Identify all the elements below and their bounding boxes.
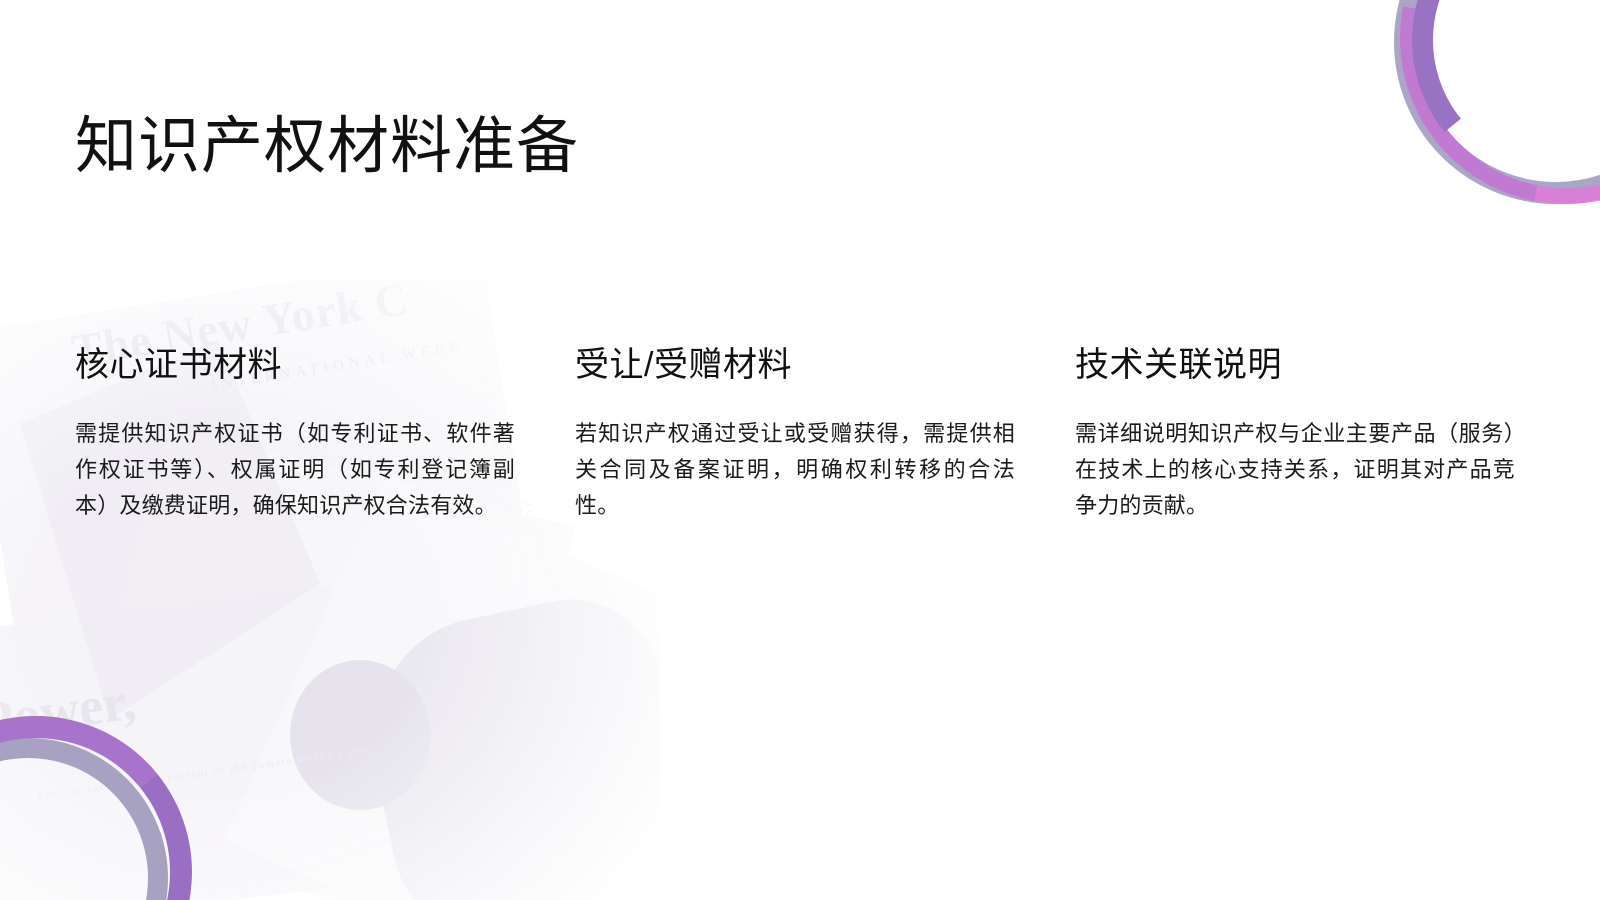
corner-arc-top-right-lavender: [1394, 0, 1600, 204]
slide-canvas: The New York C INTERNATIONAL WEEK Power,…: [0, 0, 1600, 900]
watermark-headline-text: Power,: [0, 669, 139, 752]
watermark-paper-sheet: [0, 586, 367, 900]
corner-arc-bottom-left-purple: [0, 701, 207, 900]
content-column-2: 受让/受赠材料 若知识产权通过受让或受赠获得，需提供相关合同及备案证明，明确权利…: [575, 345, 1015, 525]
column-body-text: 需提供知识产权证书（如专利证书、软件著作权证书等）、权属证明（如专利登记簿副本）…: [75, 416, 515, 525]
watermark-caption-text: The content needs the present of the dom…: [36, 743, 374, 802]
corner-arc-top-right-purple: [1398, 0, 1600, 200]
corner-arc-top-right-pink: [1336, 0, 1600, 268]
watermark-paper-sheet: [224, 474, 660, 900]
content-column-3: 技术关联说明 需详细说明知识产权与企业主要产品（服务）在技术上的核心支持关系，证…: [1075, 345, 1515, 525]
column-heading: 受让/受赠材料: [575, 345, 1015, 386]
column-body-text: 需详细说明知识产权与企业主要产品（服务）在技术上的核心支持关系，证明其对产品竞争…: [1075, 416, 1515, 525]
content-column-1: 核心证书材料 需提供知识产权证书（如专利证书、软件著作权证书等）、权属证明（如专…: [75, 345, 515, 525]
corner-arc-bottom-left-lavender: [0, 738, 168, 900]
watermark-person-head: [290, 660, 430, 810]
content-columns: 核心证书材料 需提供知识产权证书（如专利证书、软件著作权证书等）、权属证明（如专…: [75, 345, 1525, 525]
column-body-text: 若知识产权通过受让或受赠获得，需提供相关合同及备案证明，明确权利转移的合法性。: [575, 416, 1015, 525]
page-title: 知识产权材料准备: [75, 113, 579, 181]
corner-arc-bottom-left-pink: [0, 655, 253, 900]
column-heading: 核心证书材料: [75, 345, 515, 386]
watermark-person-silhouette: [349, 582, 660, 900]
column-heading: 技术关联说明: [1075, 345, 1515, 386]
